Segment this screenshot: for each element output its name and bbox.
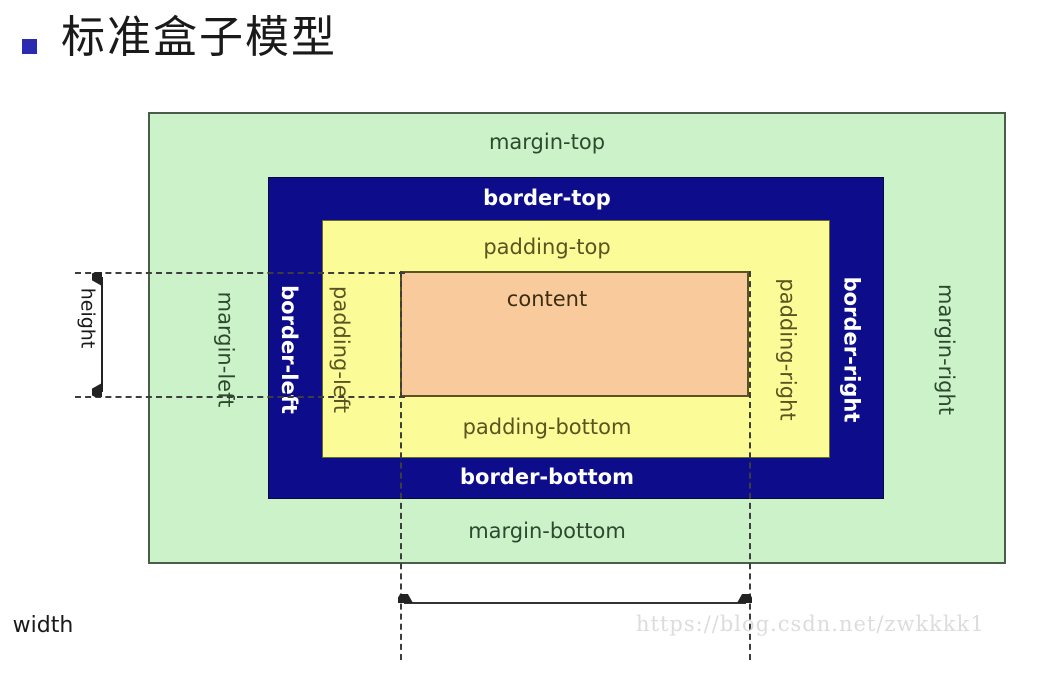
watermark-text: https://blog.csdn.net/zwkkkk1 <box>636 612 985 636</box>
label-content: content <box>15 289 1064 310</box>
label-margin-bottom: margin-bottom <box>15 521 1064 542</box>
width-dimension-arrow <box>398 594 752 612</box>
label-padding-bottom: padding-bottom <box>15 417 1064 438</box>
label-border-left: border-left <box>278 285 299 414</box>
label-margin-left: margin-left <box>214 292 235 408</box>
guide-line-content-top <box>75 272 405 274</box>
label-margin-top: margin-top <box>15 132 1064 153</box>
label-height: height <box>76 288 98 349</box>
guide-line-content-bottom <box>75 396 405 398</box>
label-padding-top: padding-top <box>15 237 1064 258</box>
label-margin-right: margin-right <box>935 284 956 415</box>
css-box-model-diagram: margin-top border-top padding-top conten… <box>0 0 1064 681</box>
label-padding-right: padding-right <box>777 278 798 420</box>
label-width: width <box>0 613 575 638</box>
label-padding-left: padding-left <box>330 286 351 413</box>
label-border-top: border-top <box>15 188 1064 209</box>
label-border-bottom: border-bottom <box>15 467 1064 488</box>
label-border-right: border-right <box>840 277 861 423</box>
